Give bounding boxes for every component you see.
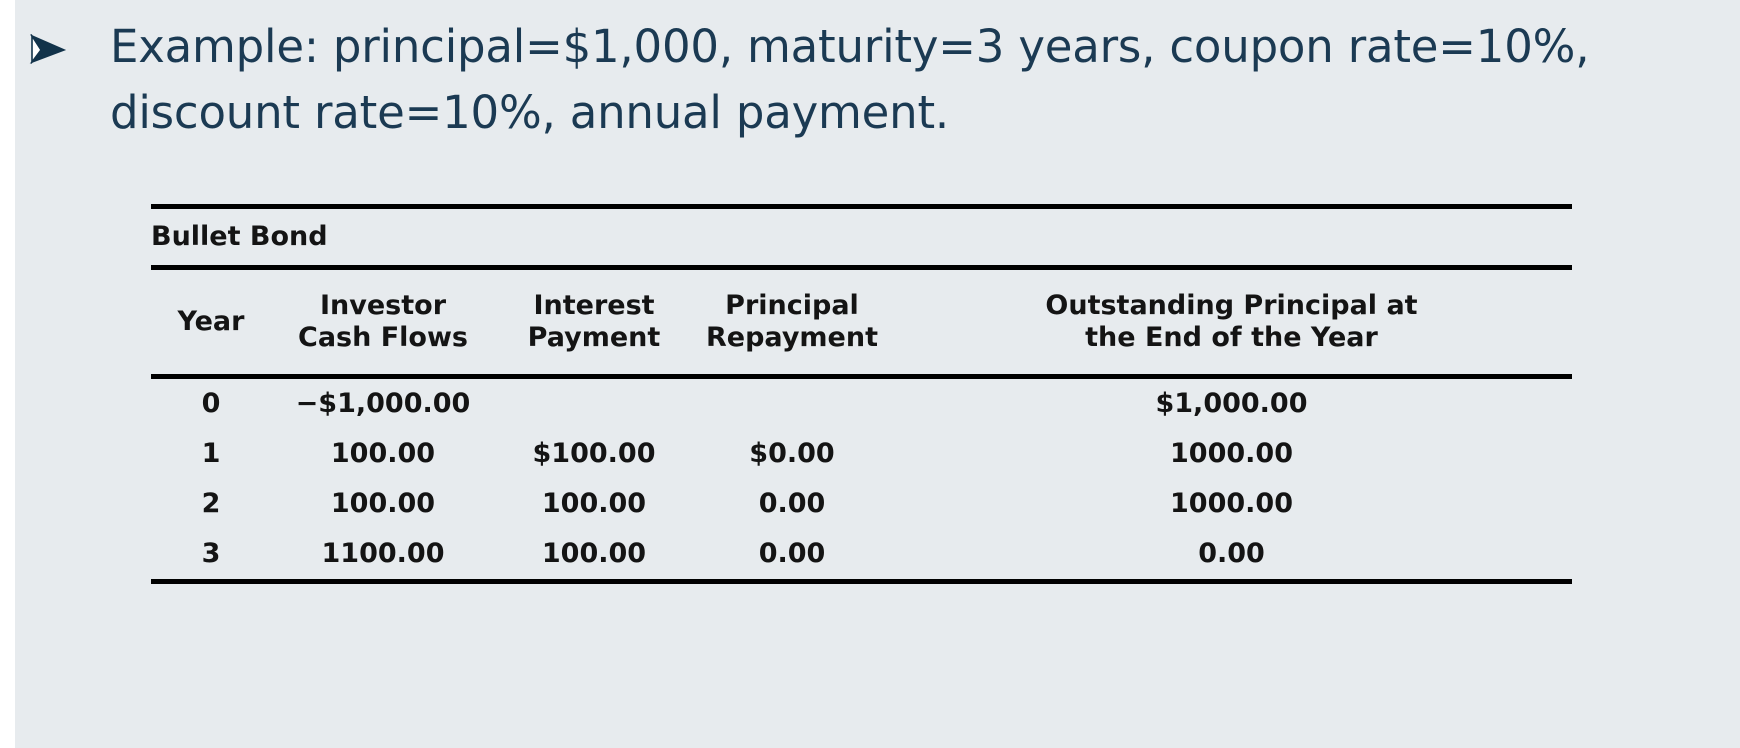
header-line-1: Outstanding Principal at: [891, 290, 1572, 322]
cell-investor-cash-flows: 100.00: [271, 479, 495, 529]
column-header-year: Year: [151, 270, 271, 377]
cell-principal-repayment: 0.00: [693, 479, 891, 529]
column-header-principal-repayment: Principal Repayment: [693, 270, 891, 377]
cell-investor-cash-flows: 1100.00: [271, 529, 495, 582]
cell-principal-repayment: 0.00: [693, 529, 891, 582]
header-line-2: the End of the Year: [891, 322, 1572, 354]
cell-interest-payment: [495, 379, 693, 429]
cell-outstanding-principal: 1000.00: [891, 479, 1572, 529]
slide-canvas: Example: principal=$1,000, maturity=3 ye…: [15, 0, 1740, 748]
bullet-text-line-1: Example: principal=$1,000, maturity=3 ye…: [110, 14, 1640, 80]
bond-table-container: Bullet Bond Year Investor Cash Flows Int…: [151, 204, 1572, 584]
table-caption-row: Bullet Bond: [151, 209, 1572, 268]
cell-principal-repayment: $0.00: [693, 429, 891, 479]
cell-outstanding-principal: $1,000.00: [891, 379, 1572, 429]
cell-investor-cash-flows: 100.00: [271, 429, 495, 479]
cell-outstanding-principal: 1000.00: [891, 429, 1572, 479]
table-row: 3 1100.00 100.00 0.00 0.00: [151, 529, 1572, 582]
bullet-line-2: discount rate=10%, annual payment.: [20, 80, 1640, 146]
cell-principal-repayment: [693, 379, 891, 429]
arrowhead-bullet-icon: [20, 14, 110, 64]
table-row: 1 100.00 $100.00 $0.00 1000.00: [151, 429, 1572, 479]
cell-investor-cash-flows: −$1,000.00: [271, 379, 495, 429]
table-row: 2 100.00 100.00 0.00 1000.00: [151, 479, 1572, 529]
table-caption: Bullet Bond: [151, 209, 1572, 268]
rule-line: [151, 582, 1572, 585]
cell-year: 3: [151, 529, 271, 582]
cell-interest-payment: 100.00: [495, 479, 693, 529]
table-rule-bottom: [151, 582, 1572, 585]
cell-outstanding-principal: 0.00: [891, 529, 1572, 582]
column-header-interest-payment: Interest Payment: [495, 270, 693, 377]
cell-year: 0: [151, 379, 271, 429]
bullet-bond-table: Bullet Bond Year Investor Cash Flows Int…: [151, 204, 1572, 584]
header-line-1: Investor: [271, 290, 495, 322]
cell-interest-payment: 100.00: [495, 529, 693, 582]
header-line-2: Cash Flows: [271, 322, 495, 354]
column-header-outstanding-principal: Outstanding Principal at the End of the …: [891, 270, 1572, 377]
bullet-line-1: Example: principal=$1,000, maturity=3 ye…: [20, 14, 1640, 80]
table-header-row: Year Investor Cash Flows Interest Paymen…: [151, 270, 1572, 377]
column-header-investor-cash-flows: Investor Cash Flows: [271, 270, 495, 377]
table-row: 0 −$1,000.00 $1,000.00: [151, 379, 1572, 429]
header-line-2: Payment: [495, 322, 693, 354]
header-line-1: Principal: [693, 290, 891, 322]
bullet-paragraph: Example: principal=$1,000, maturity=3 ye…: [20, 14, 1640, 146]
header-line-1: Interest: [495, 290, 693, 322]
header-line-2: Repayment: [693, 322, 891, 354]
bullet-text-line-2: discount rate=10%, annual payment.: [110, 80, 1640, 146]
cell-year: 2: [151, 479, 271, 529]
cell-interest-payment: $100.00: [495, 429, 693, 479]
cell-year: 1: [151, 429, 271, 479]
